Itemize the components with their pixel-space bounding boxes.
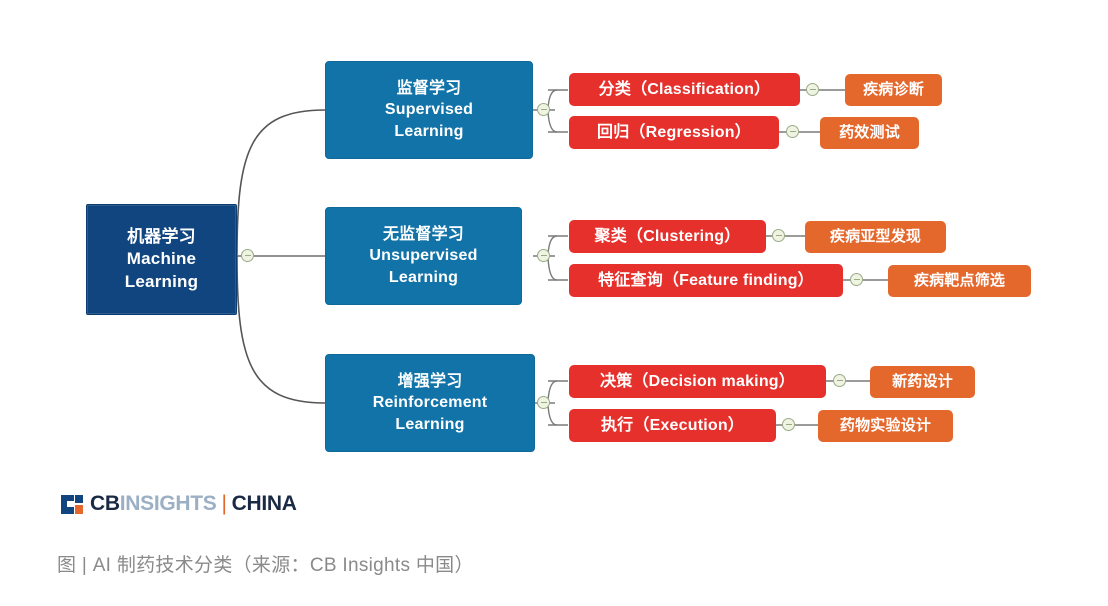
junction-dot-branch-2	[537, 249, 550, 262]
cb-insights-china-logo: CB INSIGHTS | CHINA	[61, 491, 297, 517]
logo-text-china: CHINA	[232, 492, 297, 516]
junction-dot-leaf-2-2	[850, 273, 863, 286]
junction-dot-branch-1	[537, 103, 550, 116]
junction-dot-leaf-1-1	[806, 83, 819, 96]
mindmap-canvas: 机器学习 Machine Learning 监督学习 Supervised Le…	[0, 0, 1108, 606]
junction-dot-leaf-1-2	[786, 125, 799, 138]
node-leaf-clustering[interactable]: 聚类（Clustering）	[569, 220, 766, 253]
node-outcome-drug-experiment-design[interactable]: 药物实验设计	[818, 410, 953, 442]
node-leaf-classification[interactable]: 分类（Classification）	[569, 73, 800, 106]
logo-text-cb: CB	[90, 492, 120, 516]
logo-wordmark: CB INSIGHTS | CHINA	[90, 492, 297, 516]
node-leaf-decision-making[interactable]: 决策（Decision making）	[569, 365, 826, 398]
node-outcome-disease-subtype-discovery[interactable]: 疾病亚型发现	[805, 221, 946, 253]
junction-dot-leaf-3-2	[782, 418, 795, 431]
cb-insights-logo-mark	[61, 495, 83, 514]
node-leaf-execution[interactable]: 执行（Execution）	[569, 409, 776, 442]
node-leaf-feature-finding[interactable]: 特征查询（Feature finding）	[569, 264, 843, 297]
logo-text-insights: INSIGHTS	[120, 492, 217, 516]
node-root-machine-learning[interactable]: 机器学习 Machine Learning	[86, 204, 237, 315]
node-leaf-regression[interactable]: 回归（Regression）	[569, 116, 779, 149]
logo-separator: |	[222, 492, 227, 516]
junction-dot-leaf-2-1	[772, 229, 785, 242]
node-outcome-drug-efficacy-test[interactable]: 药效测试	[820, 117, 919, 149]
junction-dot-branch-3	[537, 396, 550, 409]
node-branch-reinforcement-learning[interactable]: 增强学习 Reinforcement Learning	[325, 354, 535, 452]
node-outcome-disease-diagnosis[interactable]: 疾病诊断	[845, 74, 942, 106]
junction-dot-leaf-3-1	[833, 374, 846, 387]
figure-caption: 图 | AI 制药技术分类（来源：CB Insights 中国）	[57, 550, 474, 577]
node-outcome-new-drug-design[interactable]: 新药设计	[870, 366, 975, 398]
node-outcome-disease-target-screening[interactable]: 疾病靶点筛选	[888, 265, 1031, 297]
node-branch-unsupervised-learning[interactable]: 无监督学习 Unsupervised Learning	[325, 207, 522, 305]
node-branch-supervised-learning[interactable]: 监督学习 Supervised Learning	[325, 61, 533, 159]
junction-dot-root	[241, 249, 254, 262]
